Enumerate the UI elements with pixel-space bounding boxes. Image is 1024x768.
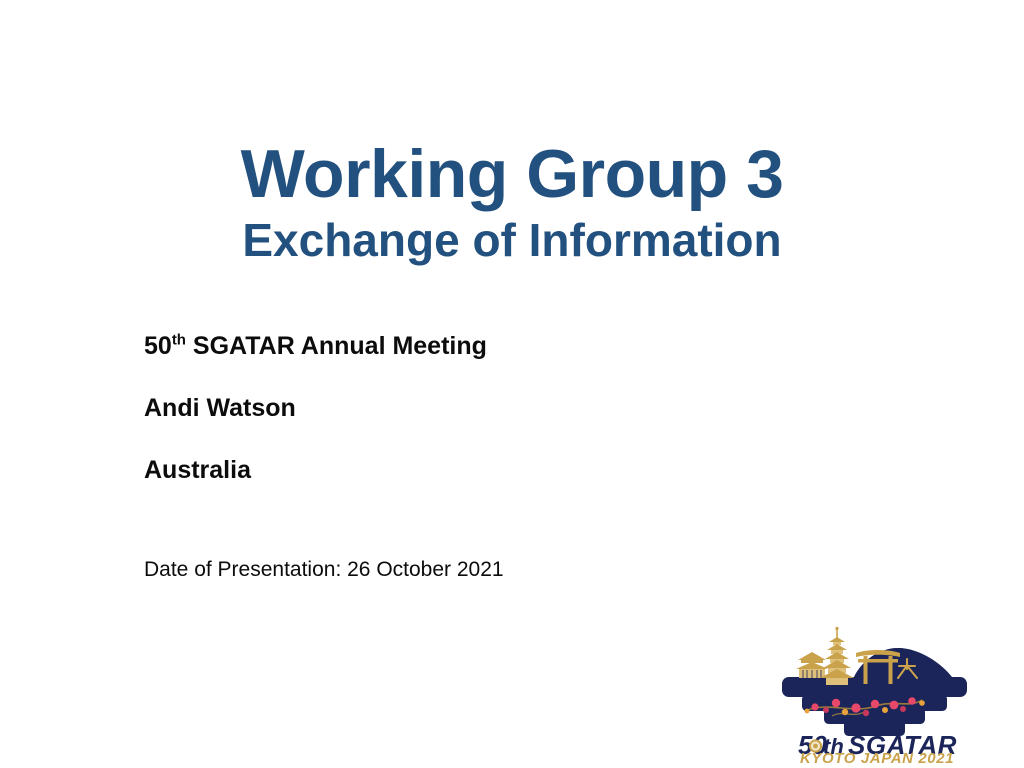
meeting-name: SGATAR Annual Meeting: [186, 332, 487, 360]
temple-icon: [796, 652, 828, 678]
body-block: 50th SGATAR Annual Meeting Andi Watson A…: [144, 334, 784, 520]
meeting-number: 50: [144, 332, 172, 360]
presentation-date: Date of Presentation: 26 October 2021: [144, 559, 504, 580]
presenter-name: Andi Watson: [144, 396, 784, 421]
presentation-slide: Working Group 3 Exchange of Information …: [0, 0, 1024, 768]
presenter-country: Australia: [144, 458, 784, 483]
page-title: Working Group 3: [0, 140, 1024, 208]
sgatar-logo-graphic: 50 th SGATAR KYOTO JAPAN 2021: [776, 626, 972, 764]
sgatar-logo: 50 th SGATAR KYOTO JAPAN 2021: [776, 626, 972, 764]
meeting-line: 50th SGATAR Annual Meeting: [144, 334, 784, 359]
logo-wordmark-location: KYOTO JAPAN 2021: [800, 750, 954, 764]
meeting-ordinal-suffix: th: [172, 332, 186, 349]
page-subtitle: Exchange of Information: [0, 216, 1024, 264]
title-block: Working Group 3 Exchange of Information: [0, 140, 1024, 264]
pagoda-icon: [820, 627, 854, 685]
